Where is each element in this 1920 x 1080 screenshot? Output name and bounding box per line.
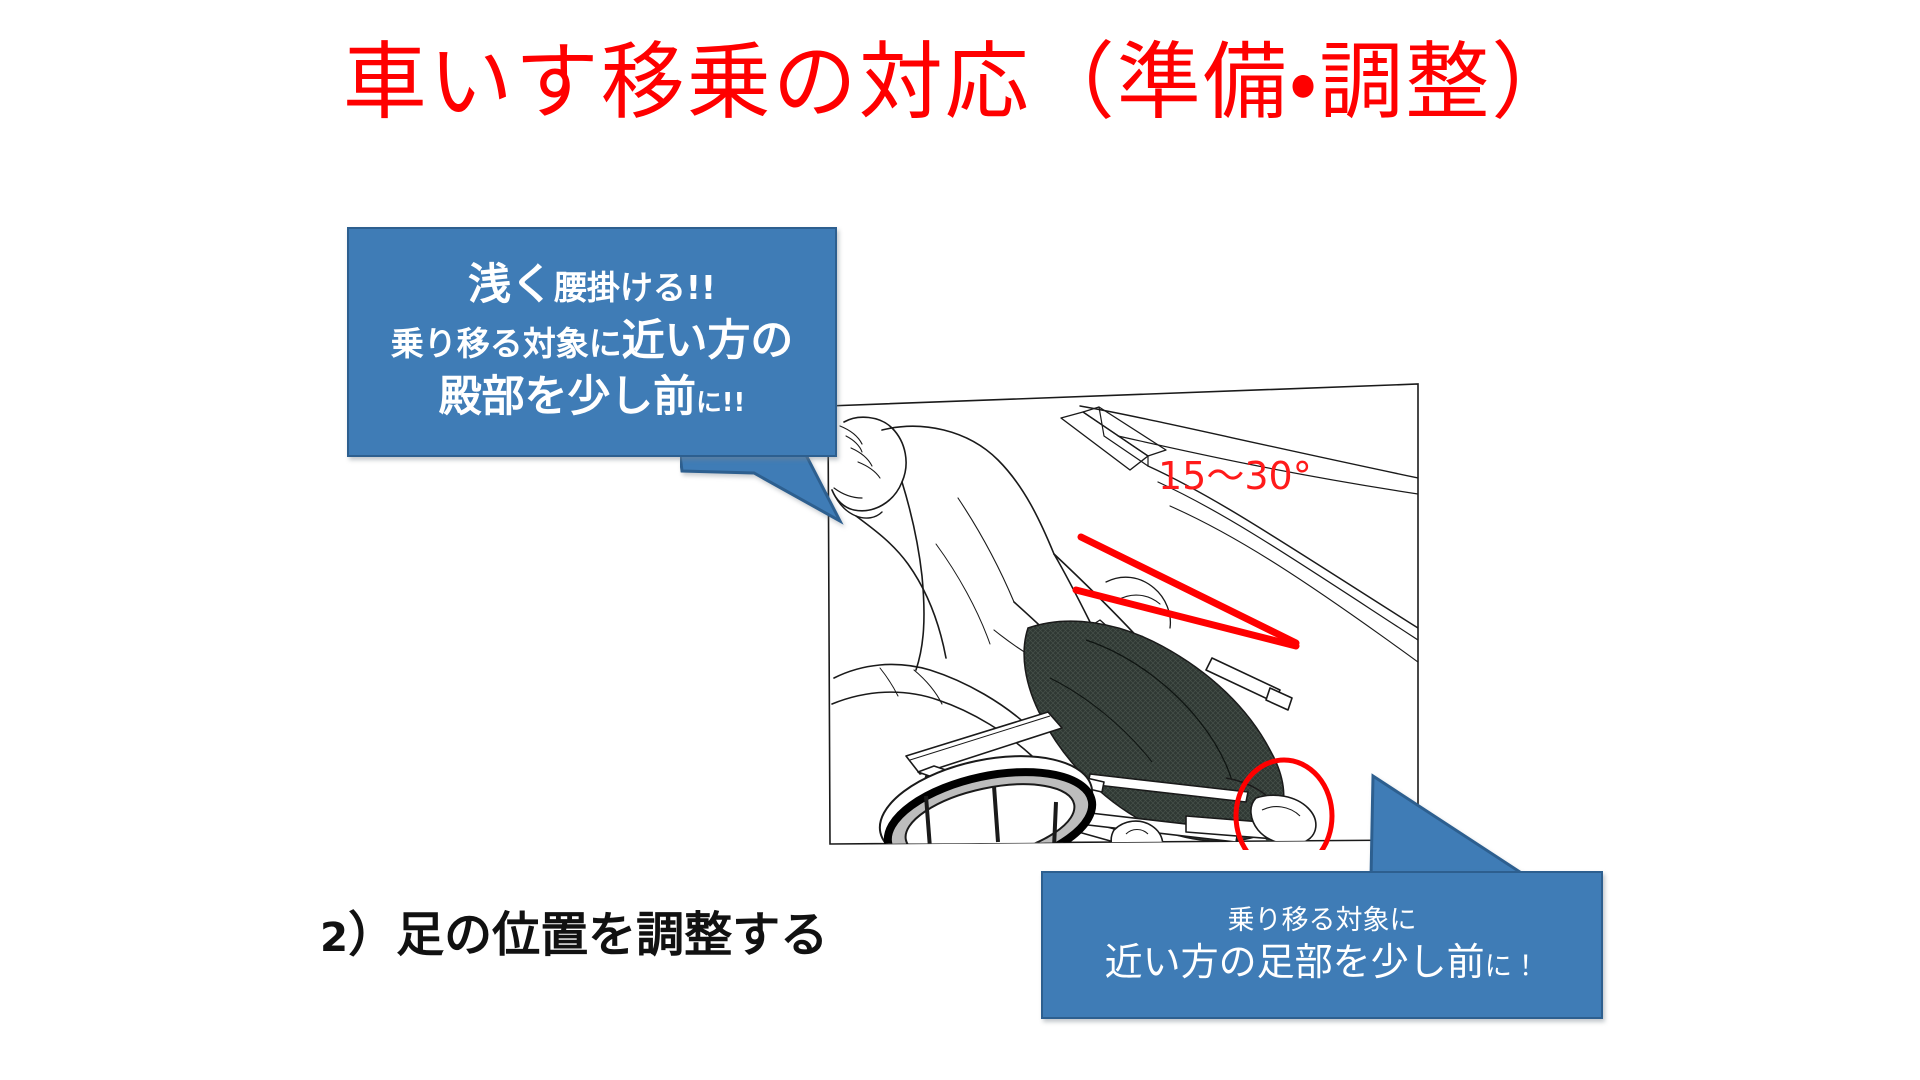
step-caption-number: 2: [320, 914, 348, 961]
callout-upper: 浅く腰掛ける!! 乗り移る対象に近い方の 殿部を少し前に!!: [347, 227, 837, 457]
callout-upper-line-2: 乗り移る対象に近い方の: [391, 314, 794, 370]
callout-upper-bubble: 浅く腰掛ける!! 乗り移る対象に近い方の 殿部を少し前に!!: [347, 227, 837, 457]
callout-lower-line-1: 乗り移る対象に: [1228, 903, 1417, 939]
step-caption-paren: ）: [348, 907, 396, 963]
angle-annotation-label: 15〜30°: [1158, 457, 1312, 495]
callout-upper-line-3: 殿部を少し前に!!: [439, 370, 746, 426]
callout-upper-line-1: 浅く腰掛ける!!: [468, 258, 716, 314]
callout-upper-line-3-rest: に!!: [696, 388, 745, 418]
callout-upper-line-1-emphasis: 浅く: [468, 260, 554, 310]
callout-upper-line-2-emphasis: 近い方の: [622, 316, 794, 366]
callout-lower-bubble: 乗り移る対象に 近い方の足部を少し前に！: [1041, 871, 1603, 1019]
wheelchair-transfer-illustration: [818, 378, 1426, 850]
step-caption: 2）足の位置を調整する: [320, 895, 828, 965]
callout-upper-line-3-emphasis: 殿部を少し前: [439, 372, 696, 422]
callout-lower-line-2-emphasis: 近い方の足部を少し前: [1105, 940, 1485, 984]
callout-upper-line-2-lead: 乗り移る対象に: [391, 324, 622, 363]
page-title: 車いす移乗の対応（準備・調整）: [0, 38, 1920, 126]
step-caption-text: 足の位置を調整する: [396, 907, 828, 963]
callout-lower-line-2-rest: に！: [1485, 951, 1540, 982]
callout-lower: 乗り移る対象に 近い方の足部を少し前に！: [1041, 871, 1603, 1019]
callout-upper-line-1-rest: 腰掛ける!!: [554, 268, 716, 307]
slide-canvas: 車いす移乗の対応（準備・調整）: [0, 0, 1920, 1080]
callout-lower-line-2: 近い方の足部を少し前に！: [1105, 939, 1540, 987]
